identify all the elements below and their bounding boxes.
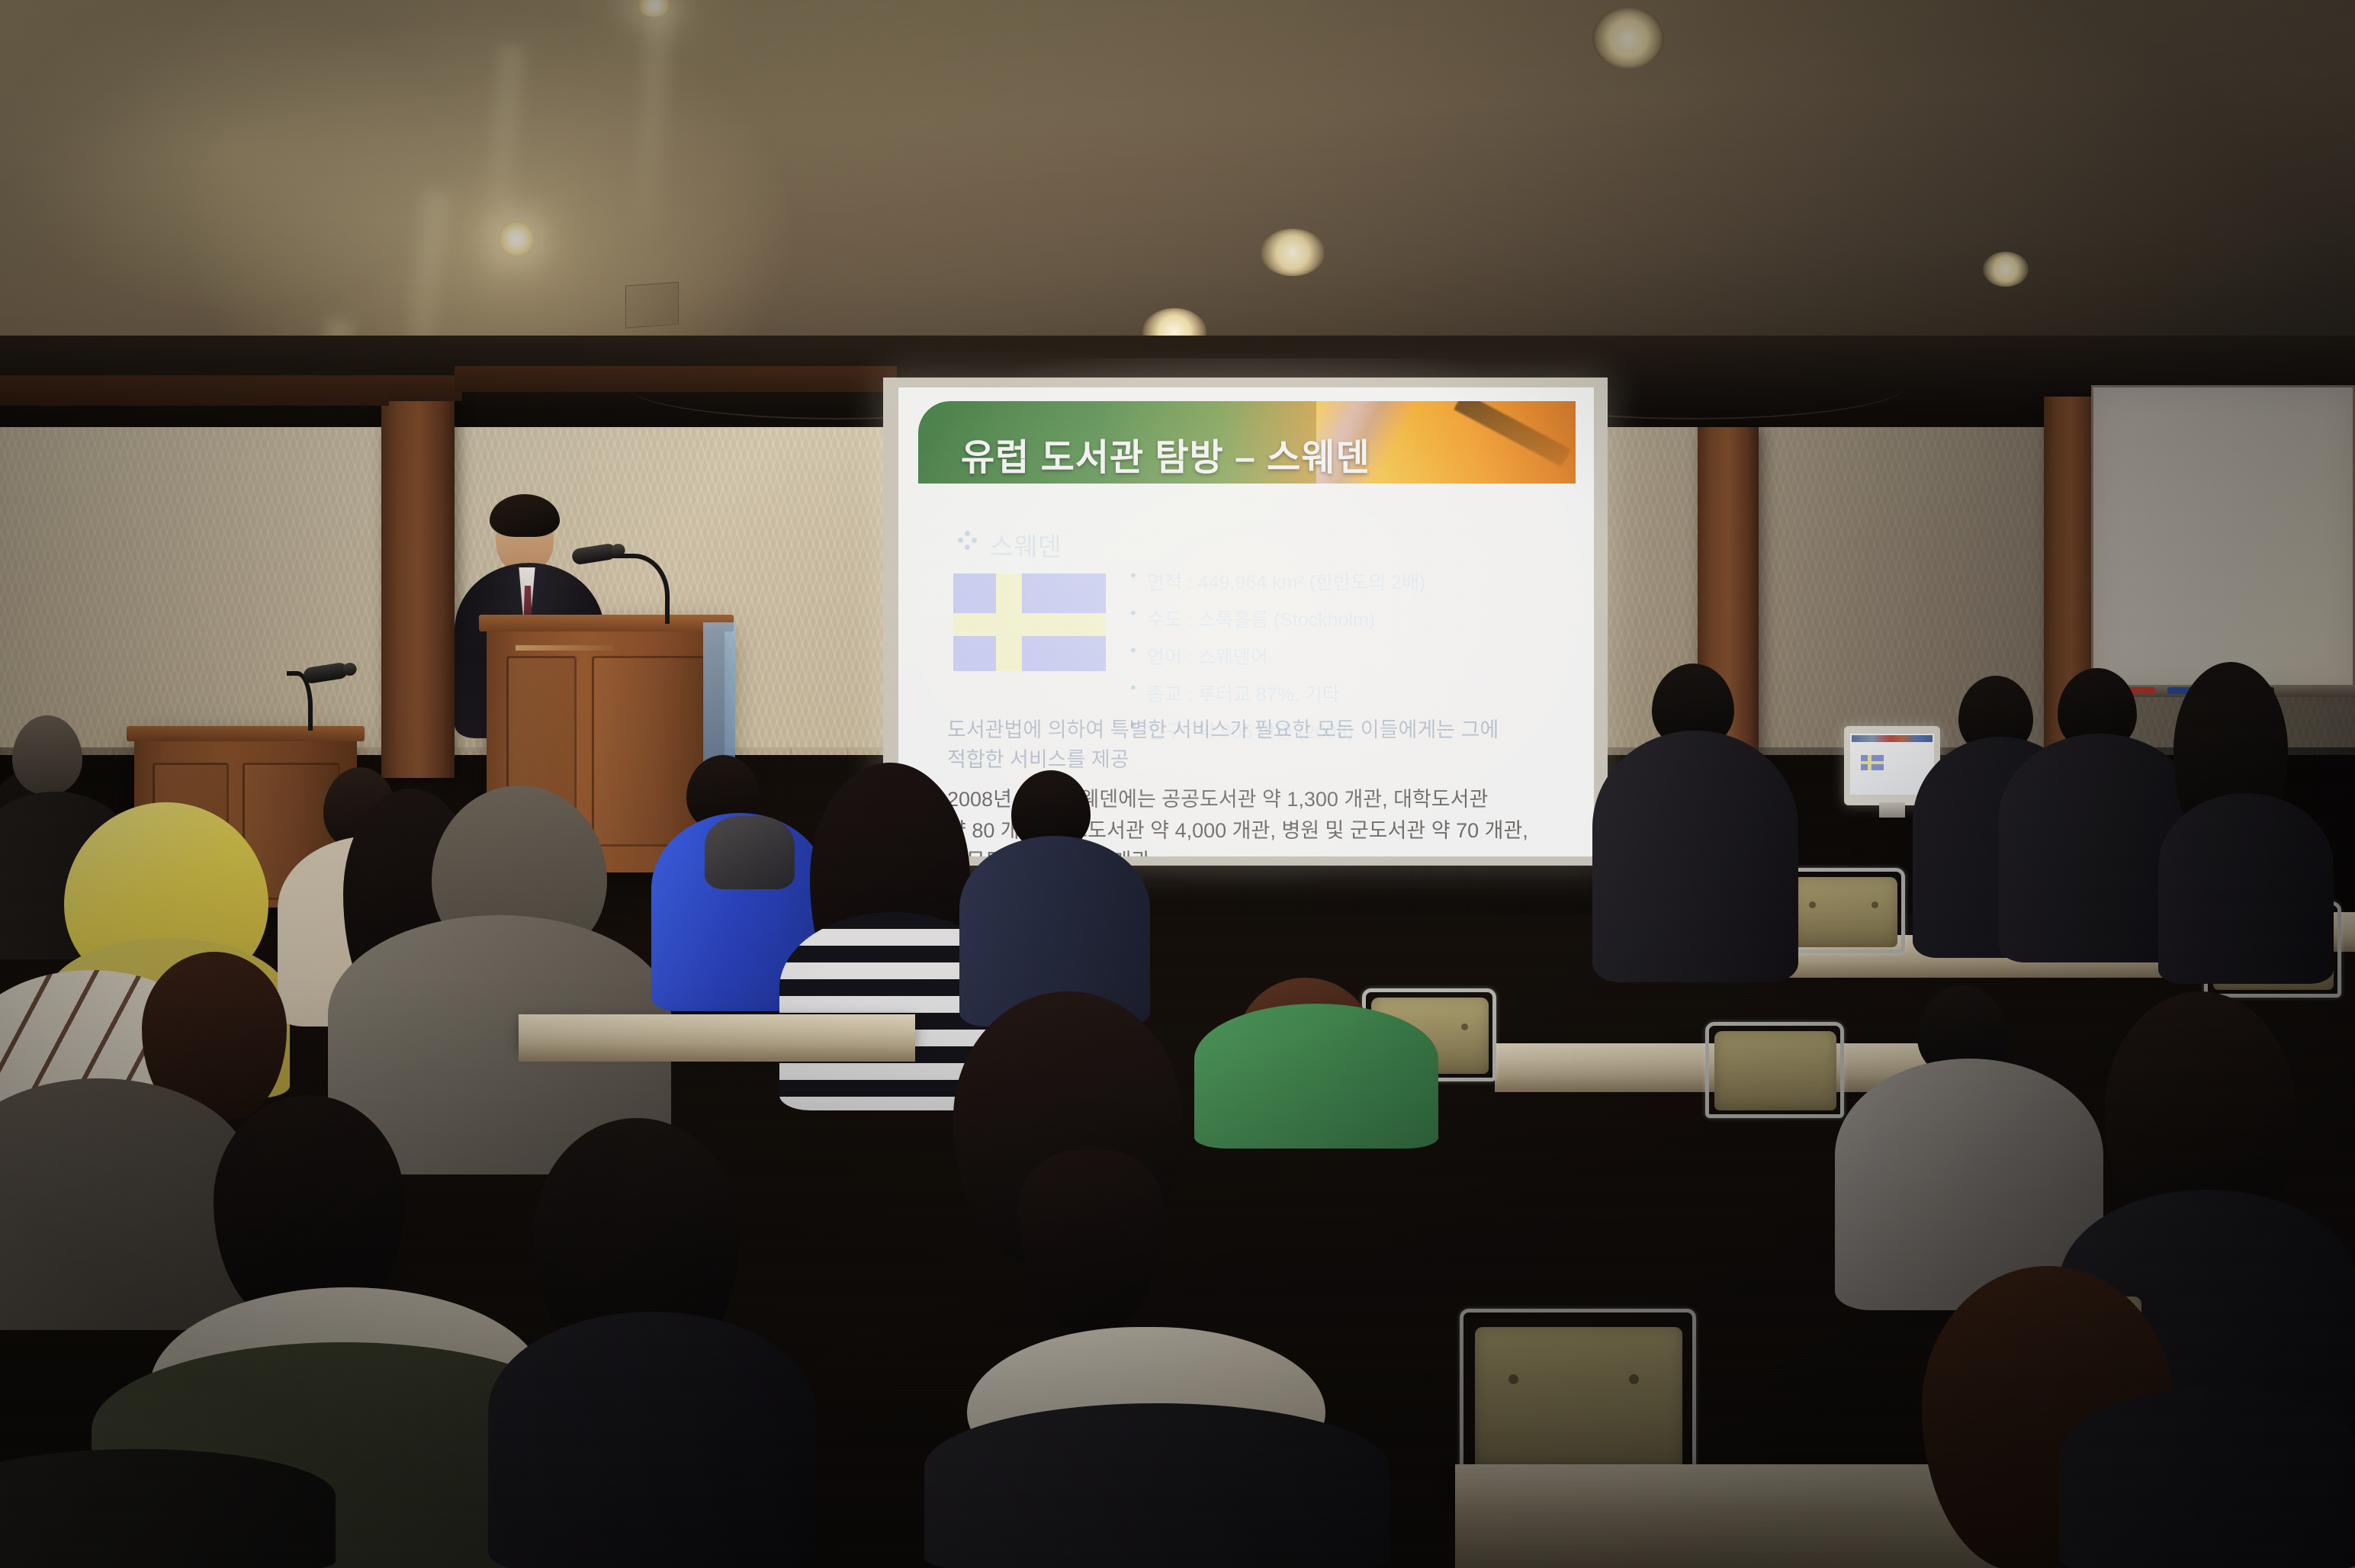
audience-table-edge [519, 1045, 915, 1062]
slide-bullet: 면적 : 449,964 km² (한반도의 2배) [1127, 567, 1569, 595]
slide-bullet: 종교 : 루터교 87%, 기타 [1127, 680, 1569, 707]
audience-body [0, 1449, 336, 1568]
slide-quote-line: 도서관법에 의하여 특별한 서비스가 필요한 모든 이들에게는 그에 [947, 715, 1580, 745]
audience-dark-coat [1592, 731, 1798, 982]
lectern-panel [592, 656, 705, 847]
swedish-flag-icon [953, 574, 1106, 671]
audience-table [519, 1014, 915, 1048]
monitor-stand [1879, 802, 1905, 818]
chair-tuft [1629, 1374, 1639, 1384]
audience-chair-seat[interactable] [1791, 877, 1897, 947]
audience-dark-coat [2158, 793, 2334, 984]
slide-bullet: 언어 : 스웨덴어 [1127, 642, 1569, 670]
lecture-hall-photo: 유럽 도서관 탐방 – 스웨덴 스웨덴 면적 : 449,964 km² (한반… [0, 0, 2355, 1568]
chair-tuft [1461, 1023, 1468, 1030]
monitor-toolbar [1852, 735, 1933, 742]
slide-quote: 도서관법에 의하여 특별한 서비스가 필요한 모든 이들에게는 그에 적합한 서… [947, 715, 1580, 775]
slide-section-heading: 스웨덴 [990, 526, 1062, 564]
chair-tuft [1809, 901, 1816, 908]
audience-body [924, 1403, 1390, 1568]
wall-header-beam [0, 375, 389, 406]
audience-dark-coat [2059, 1388, 2355, 1568]
ceiling-light-wash [0, 0, 2355, 358]
audience-chair-seat[interactable] [1714, 1031, 1836, 1110]
chair-tuft [1871, 901, 1878, 908]
slide-title-banner: 유럽 도서관 탐방 – 스웨덴 [918, 401, 1576, 484]
presentation-slide: 유럽 도서관 탐방 – 스웨덴 스웨덴 면적 : 449,964 km² (한반… [898, 387, 1594, 856]
slide-bullet-marker-icon [958, 531, 978, 551]
audience-ponytail [1019, 1149, 1164, 1339]
secondary-lectern-top [127, 726, 365, 741]
ceiling-downlight [1592, 8, 1664, 69]
wall-header-beam [455, 366, 897, 392]
audience-green-sweater [1194, 1004, 1438, 1149]
ceiling-vent [625, 282, 679, 329]
audience-table-edge [1746, 962, 2173, 978]
monitor-swedish-flag-icon [1861, 755, 1884, 770]
ceiling-downlight [1983, 252, 2029, 287]
audience-collar [705, 816, 795, 889]
ceiling-downlight-on [499, 221, 534, 256]
wall-pillar [381, 381, 455, 778]
chair-tuft [1508, 1374, 1518, 1384]
slide-title: 유럽 도서관 탐방 – 스웨덴 [961, 427, 1370, 480]
slide-bullet: 수도 : 스톡홀름 (Stockholm) [1127, 605, 1569, 632]
main-lectern-top [479, 615, 734, 631]
lectern-side-light [703, 622, 735, 767]
lectern-trim [516, 645, 613, 651]
audience-dark-coat [488, 1312, 816, 1568]
whiteboard[interactable] [2091, 385, 2355, 690]
ceiling-downlight [1260, 229, 1325, 276]
